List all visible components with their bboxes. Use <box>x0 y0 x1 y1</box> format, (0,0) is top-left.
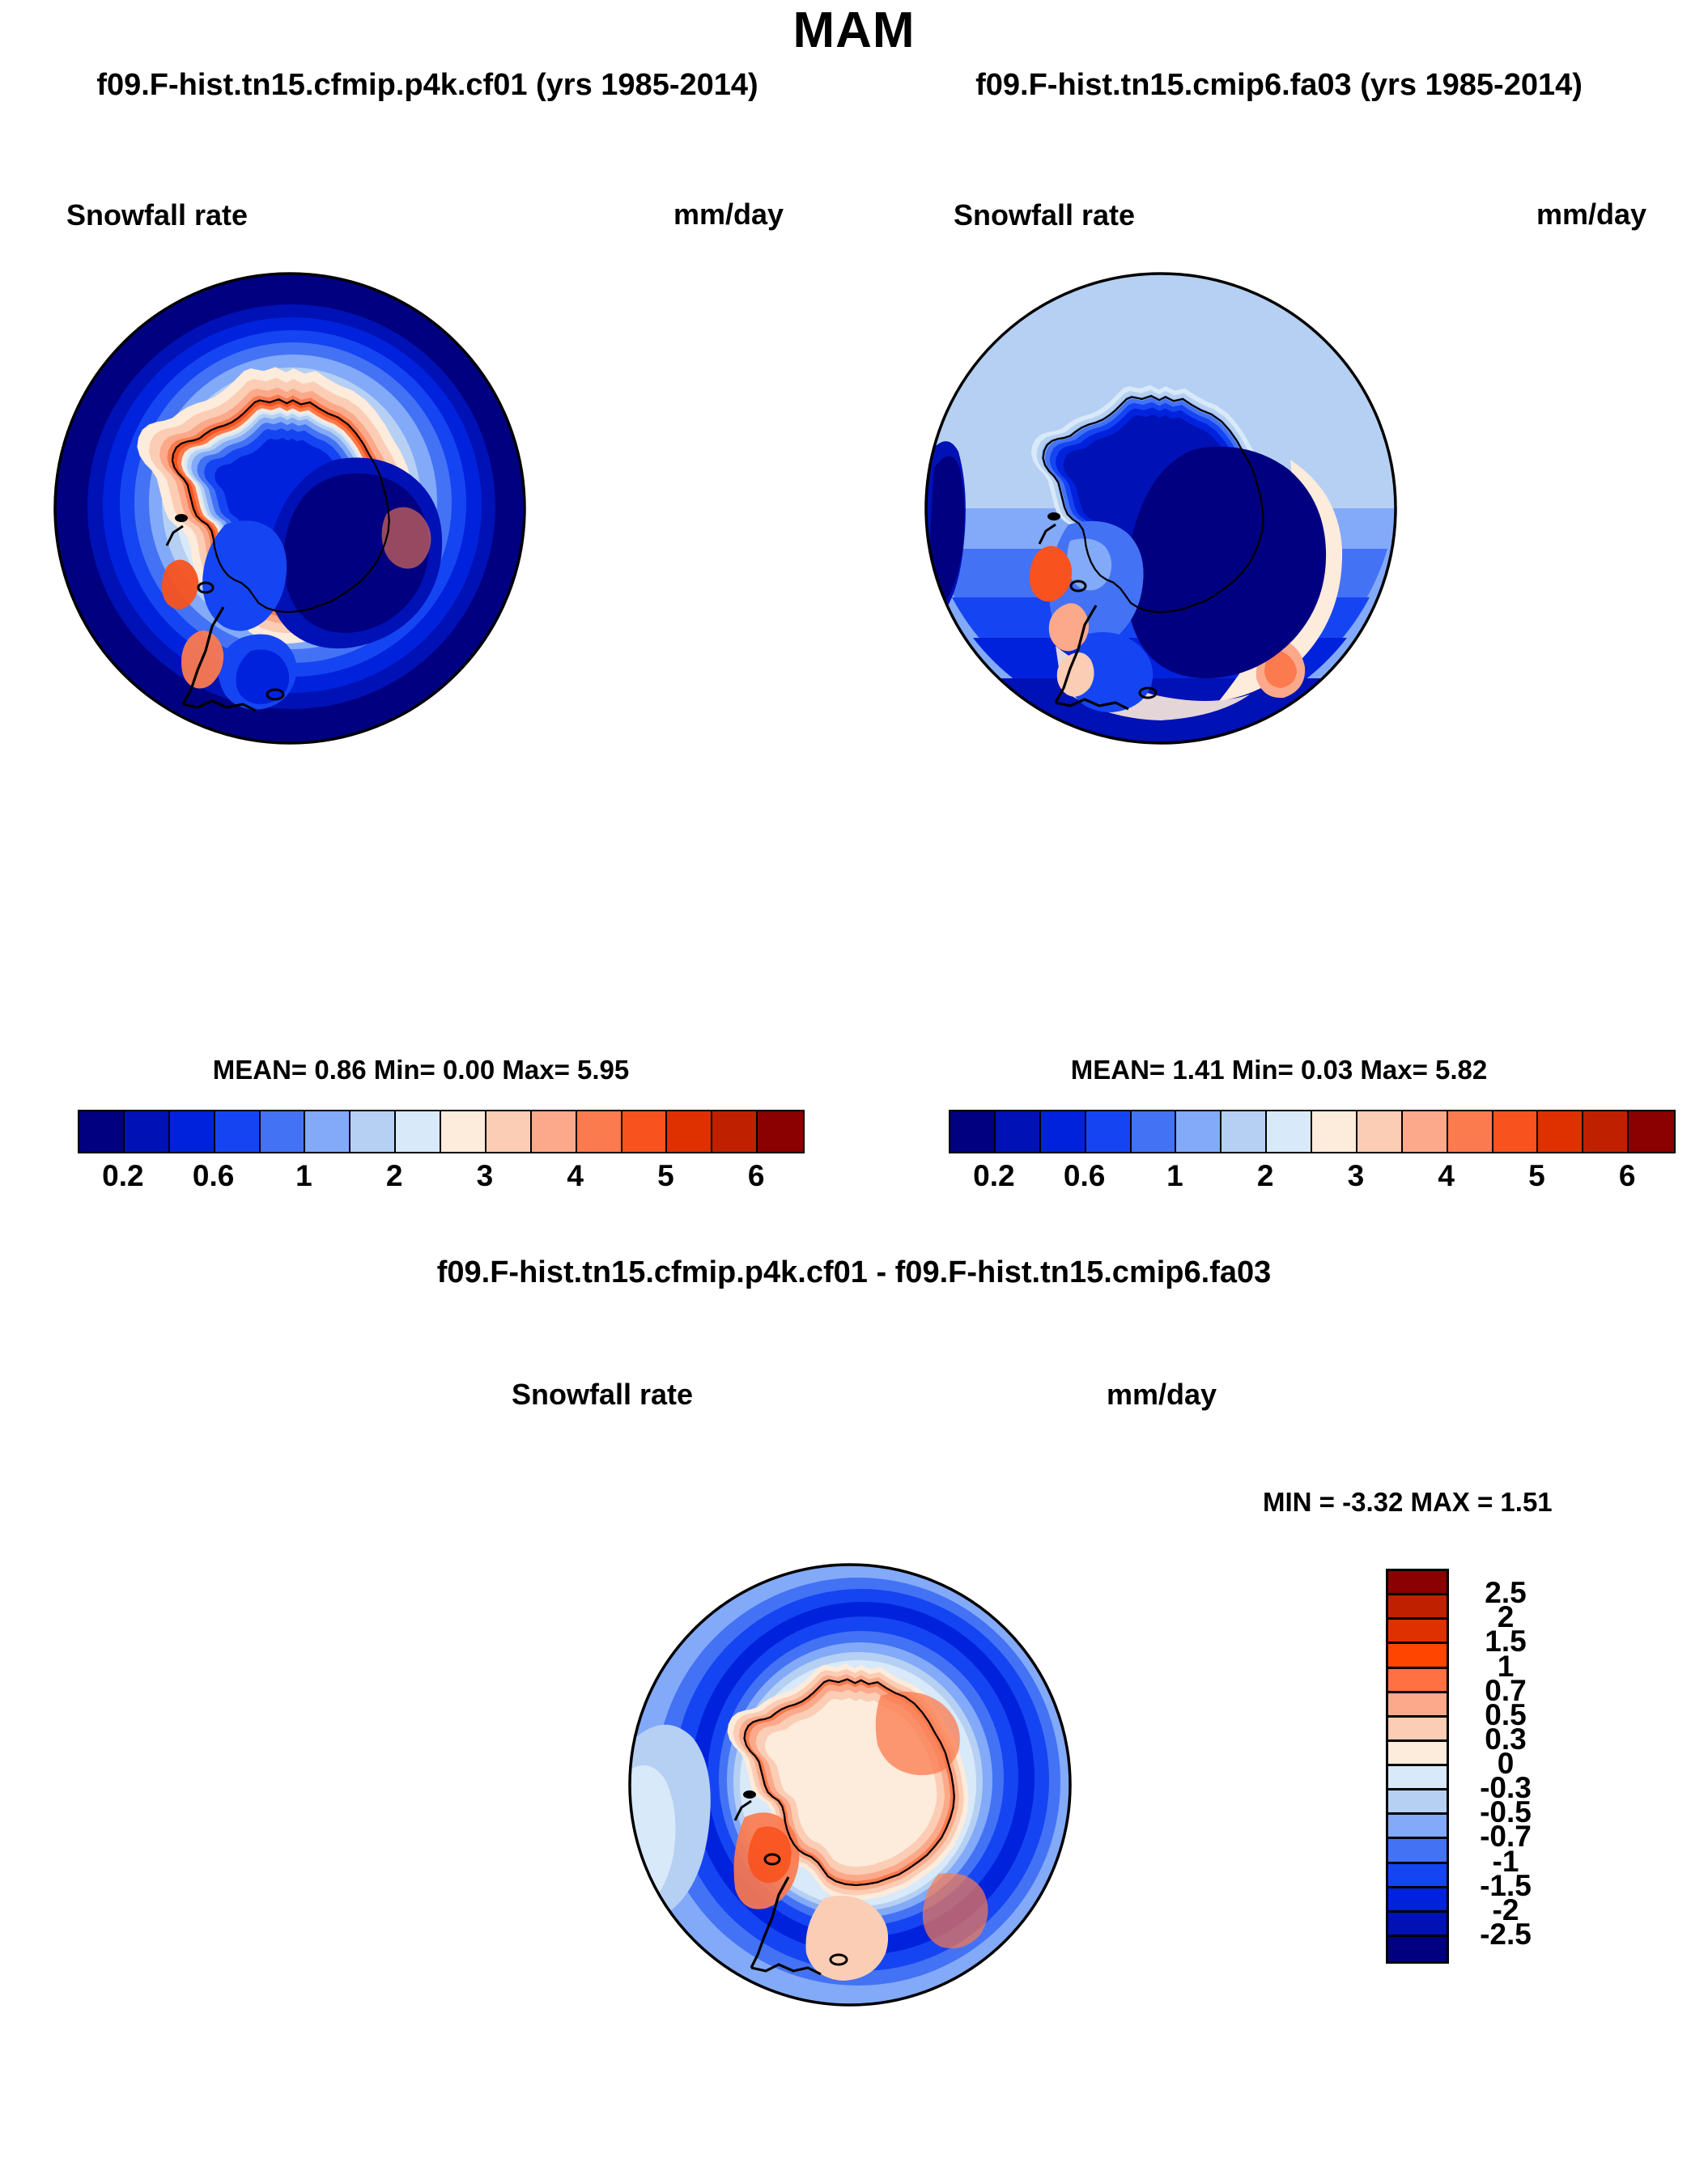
colorbar-cell <box>1132 1111 1177 1152</box>
colorbar-tick-label: 0.6 <box>1064 1159 1105 1193</box>
colorbar-cell <box>170 1111 215 1152</box>
map-right-svg <box>910 257 1412 759</box>
contour-bands-difference <box>617 1563 1072 2007</box>
colorbar-cell <box>950 1111 996 1152</box>
panel-title-right: f09.F-hist.tn15.cmip6.fa03 (yrs 1985-201… <box>856 68 1702 103</box>
map-difference <box>615 1550 1085 2020</box>
colorbar-cell <box>261 1111 306 1152</box>
variable-label-left: Snowfall rate <box>66 198 248 232</box>
colorbar-cell <box>622 1111 668 1152</box>
colorbar-cell <box>215 1111 261 1152</box>
stats-right: MEAN= 1.41 Min= 0.03 Max= 5.82 <box>856 1055 1702 1085</box>
colorbar-cell <box>1388 1595 1447 1620</box>
map-difference-svg <box>615 1550 1085 2020</box>
colorbar-tick-label: 4 <box>1438 1159 1455 1193</box>
colorbar-cell <box>1538 1111 1583 1152</box>
colorbar-ticks-right: 0.20.6123456 <box>949 1159 1672 1196</box>
colorbar-cell <box>1388 1693 1447 1718</box>
colorbar-cell <box>758 1111 803 1152</box>
colorbar-cell <box>1222 1111 1267 1152</box>
map-right <box>910 257 1412 759</box>
colorbar-left <box>78 1110 805 1153</box>
colorbar-tick-label: 0.6 <box>193 1159 234 1193</box>
colorbar-cell <box>1267 1111 1312 1152</box>
map-left <box>39 257 541 759</box>
colorbar-cell <box>667 1111 712 1152</box>
units-label-left: mm/day <box>673 198 784 231</box>
colorbar-cell <box>1176 1111 1222 1152</box>
colorbar-tick-label: -2.5 <box>1457 1918 1554 1952</box>
colorbar-cell <box>351 1111 396 1152</box>
colorbar-cell <box>1388 1742 1447 1766</box>
colorbar-ticks-difference: 2.521.510.70.50.30-0.3-0.5-0.7-1-1.5-2-2… <box>1457 1569 1595 1959</box>
colorbar-difference <box>1386 1569 1449 1964</box>
colorbar-cell <box>1388 1913 1447 1937</box>
colorbar-cell <box>532 1111 577 1152</box>
colorbar-cell <box>125 1111 170 1152</box>
colorbar-tick-label: 5 <box>657 1159 674 1193</box>
colorbar-cell <box>1388 1815 1447 1839</box>
colorbar-cell <box>79 1111 125 1152</box>
colorbar-tick-label: 1 <box>295 1159 312 1193</box>
colorbar-tick-label: 2 <box>1257 1159 1274 1193</box>
colorbar-cell <box>1493 1111 1539 1152</box>
map-left-svg <box>39 257 541 759</box>
colorbar-cell <box>1448 1111 1493 1152</box>
colorbar-tick-label: 6 <box>748 1159 765 1193</box>
colorbar-ticks-left: 0.20.6123456 <box>78 1159 801 1196</box>
colorbar-cell <box>1388 1937 1447 1961</box>
figure-canvas: MAM f09.F-hist.tn15.cfmip.p4k.cf01 (yrs … <box>0 0 1708 2179</box>
colorbar-cell <box>1388 1766 1447 1790</box>
colorbar-cell <box>1357 1111 1403 1152</box>
variable-label-right: Snowfall rate <box>954 198 1135 232</box>
colorbar-cell <box>1388 1718 1447 1742</box>
colorbar-cell <box>1388 1669 1447 1693</box>
colorbar-cell <box>1388 1790 1447 1815</box>
colorbar-cell <box>1388 1620 1447 1644</box>
colorbar-cell <box>396 1111 441 1152</box>
stats-difference: MIN = -3.32 MAX = 1.51 <box>1263 1487 1553 1518</box>
colorbar-tick-label: 6 <box>1619 1159 1636 1193</box>
colorbar-cell <box>1583 1111 1629 1152</box>
colorbar-tick-label: 0.2 <box>973 1159 1014 1193</box>
colorbar-tick-label: 2 <box>386 1159 403 1193</box>
colorbar-cell <box>1629 1111 1674 1152</box>
colorbar-right <box>949 1110 1676 1153</box>
colorbar-tick-label: 3 <box>1348 1159 1365 1193</box>
colorbar-tick-label: 0.2 <box>102 1159 143 1193</box>
colorbar-cell <box>577 1111 622 1152</box>
panel-title-left: f09.F-hist.tn15.cfmip.p4k.cf01 (yrs 1985… <box>6 68 848 103</box>
variable-label-difference: Snowfall rate <box>512 1378 693 1412</box>
colorbar-cell <box>1403 1111 1448 1152</box>
colorbar-tick-label: 4 <box>567 1159 584 1193</box>
colorbar-cell <box>441 1111 486 1152</box>
units-label-difference: mm/day <box>1107 1378 1217 1412</box>
colorbar-cell <box>1388 1571 1447 1595</box>
colorbar-cell <box>1312 1111 1357 1152</box>
colorbar-cell <box>486 1111 532 1152</box>
units-label-right: mm/day <box>1536 198 1646 231</box>
stats-left: MEAN= 0.86 Min= 0.00 Max= 5.95 <box>0 1055 842 1085</box>
colorbar-cell <box>1388 1644 1447 1668</box>
colorbar-tick-label: 3 <box>477 1159 494 1193</box>
colorbar-cell <box>1388 1839 1447 1863</box>
colorbar-cell <box>1086 1111 1132 1152</box>
colorbar-cell <box>1388 1864 1447 1888</box>
colorbar-tick-label: 1 <box>1166 1159 1183 1193</box>
colorbar-cell <box>305 1111 351 1152</box>
colorbar-cell <box>996 1111 1041 1152</box>
colorbar-cell <box>712 1111 758 1152</box>
colorbar-tick-label: 5 <box>1528 1159 1545 1193</box>
panel-title-difference: f09.F-hist.tn15.cfmip.p4k.cf01 - f09.F-h… <box>0 1255 1708 1290</box>
page-title: MAM <box>0 2 1708 59</box>
colorbar-cell <box>1041 1111 1086 1152</box>
colorbar-cell <box>1388 1888 1447 1913</box>
